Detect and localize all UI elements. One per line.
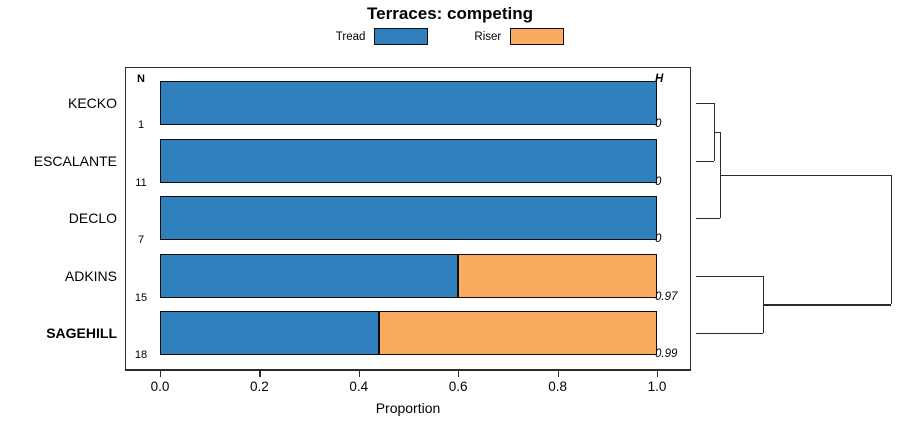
bar-segment-tread[interactable]: [160, 254, 458, 298]
x-tick-label: 0.6: [449, 379, 468, 394]
dendrogram-leaf-declo: [696, 218, 720, 219]
x-axis: 0.00.20.40.60.81.0: [125, 370, 691, 371]
dendrogram-leaf-adkins: [696, 276, 763, 277]
bar-segment-tread[interactable]: [160, 311, 379, 355]
bar-segment-tread[interactable]: [160, 139, 657, 183]
dendrogram-leaf-escalante: [696, 161, 714, 162]
x-tick-label: 0.0: [151, 379, 170, 394]
x-tick-label: 0.8: [548, 379, 567, 394]
x-axis-title: Proportion: [125, 400, 691, 416]
chart-legend: Tread Riser: [0, 28, 900, 45]
x-tick: [259, 370, 260, 377]
x-tick: [657, 370, 658, 377]
x-tick-label: 0.2: [250, 379, 269, 394]
x-tick: [359, 370, 360, 377]
x-tick: [458, 370, 459, 377]
bar-segment-tread[interactable]: [160, 196, 657, 240]
dendrogram-root: [891, 175, 892, 304]
chart-title: Terraces: competing: [0, 4, 900, 24]
legend-item-riser[interactable]: Riser: [474, 28, 564, 45]
bar-segment-riser[interactable]: [379, 311, 657, 355]
x-tick: [160, 370, 161, 377]
dendrogram-leaf-sagehill: [696, 333, 763, 334]
bar-segment-tread[interactable]: [160, 81, 657, 125]
x-tick-label: 1.0: [648, 379, 667, 394]
dendrogram-link: [763, 304, 891, 305]
x-tick: [558, 370, 559, 377]
x-tick-label: 0.4: [349, 379, 368, 394]
legend-label-riser: Riser: [474, 31, 501, 43]
dendrogram-link: [720, 175, 891, 176]
chart-canvas: Terraces: competing Tread Riser KECKOESC…: [0, 0, 900, 440]
bar-segment-riser[interactable]: [458, 254, 657, 298]
legend-item-tread[interactable]: Tread: [336, 28, 429, 45]
dendrogram: [691, 67, 900, 370]
legend-swatch-tread: [374, 28, 428, 45]
dendrogram-leaf-kecko: [696, 103, 714, 104]
legend-label-tread: Tread: [336, 31, 366, 43]
legend-swatch-riser: [510, 28, 564, 45]
